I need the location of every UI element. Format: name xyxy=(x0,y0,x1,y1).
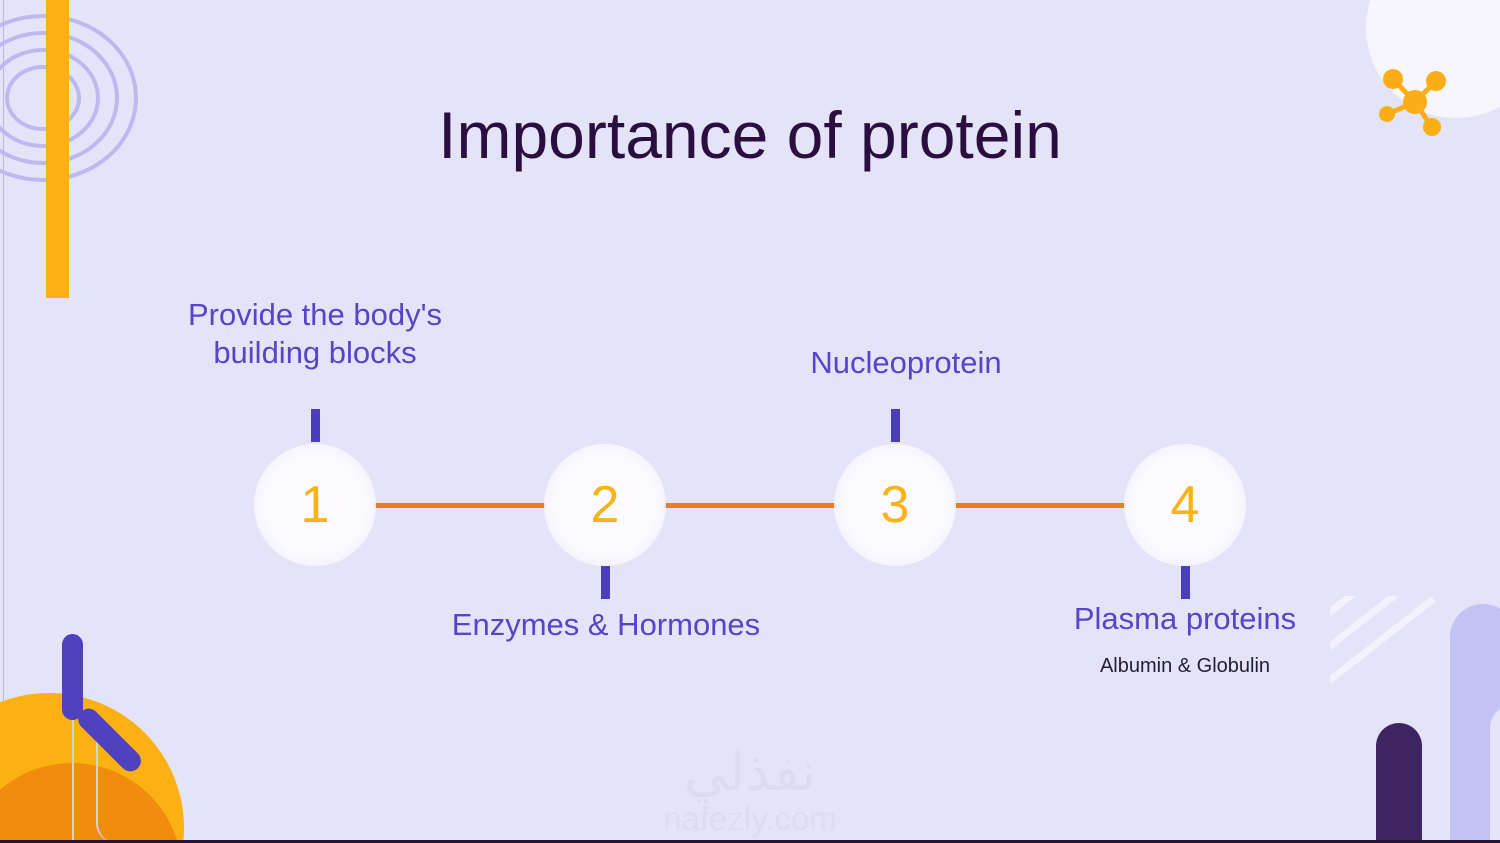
timeline-label-1-line2: building blocks xyxy=(125,334,505,372)
timeline-node-2[interactable]: 2 xyxy=(544,444,666,566)
timeline-label-1-line1: Provide the body's xyxy=(125,296,505,334)
tick-step-2 xyxy=(601,566,610,599)
timeline-node-3[interactable]: 3 xyxy=(834,444,956,566)
timeline-node-1-number: 1 xyxy=(301,475,330,535)
connector-3-4 xyxy=(954,503,1126,508)
timeline-node-4-number: 4 xyxy=(1171,475,1200,535)
timeline-diagram: 1 2 3 4 Provide the body's building bloc… xyxy=(0,0,1500,843)
tick-step-3 xyxy=(891,409,900,442)
connector-2-3 xyxy=(664,503,836,508)
slide-canvas: Importance of protein 1 2 3 4 Provide th… xyxy=(0,0,1500,843)
timeline-node-3-number: 3 xyxy=(881,475,910,535)
timeline-label-2-line1: Enzymes & Hormones xyxy=(406,606,806,644)
timeline-label-3: Nucleoprotein xyxy=(706,344,1106,382)
timeline-label-1: Provide the body's building blocks xyxy=(125,296,505,372)
connector-1-2 xyxy=(374,503,546,508)
timeline-node-2-number: 2 xyxy=(591,475,620,535)
timeline-label-4: Plasma proteins xyxy=(985,600,1385,638)
timeline-node-1[interactable]: 1 xyxy=(254,444,376,566)
timeline-label-3-line1: Nucleoprotein xyxy=(706,344,1106,382)
tick-step-4 xyxy=(1181,566,1190,599)
timeline-sublabel-4: Albumin & Globulin xyxy=(985,655,1385,678)
timeline-label-4-line1: Plasma proteins xyxy=(985,600,1385,638)
tick-step-1 xyxy=(311,409,320,442)
timeline-node-4[interactable]: 4 xyxy=(1124,444,1246,566)
timeline-label-2: Enzymes & Hormones xyxy=(406,606,806,644)
